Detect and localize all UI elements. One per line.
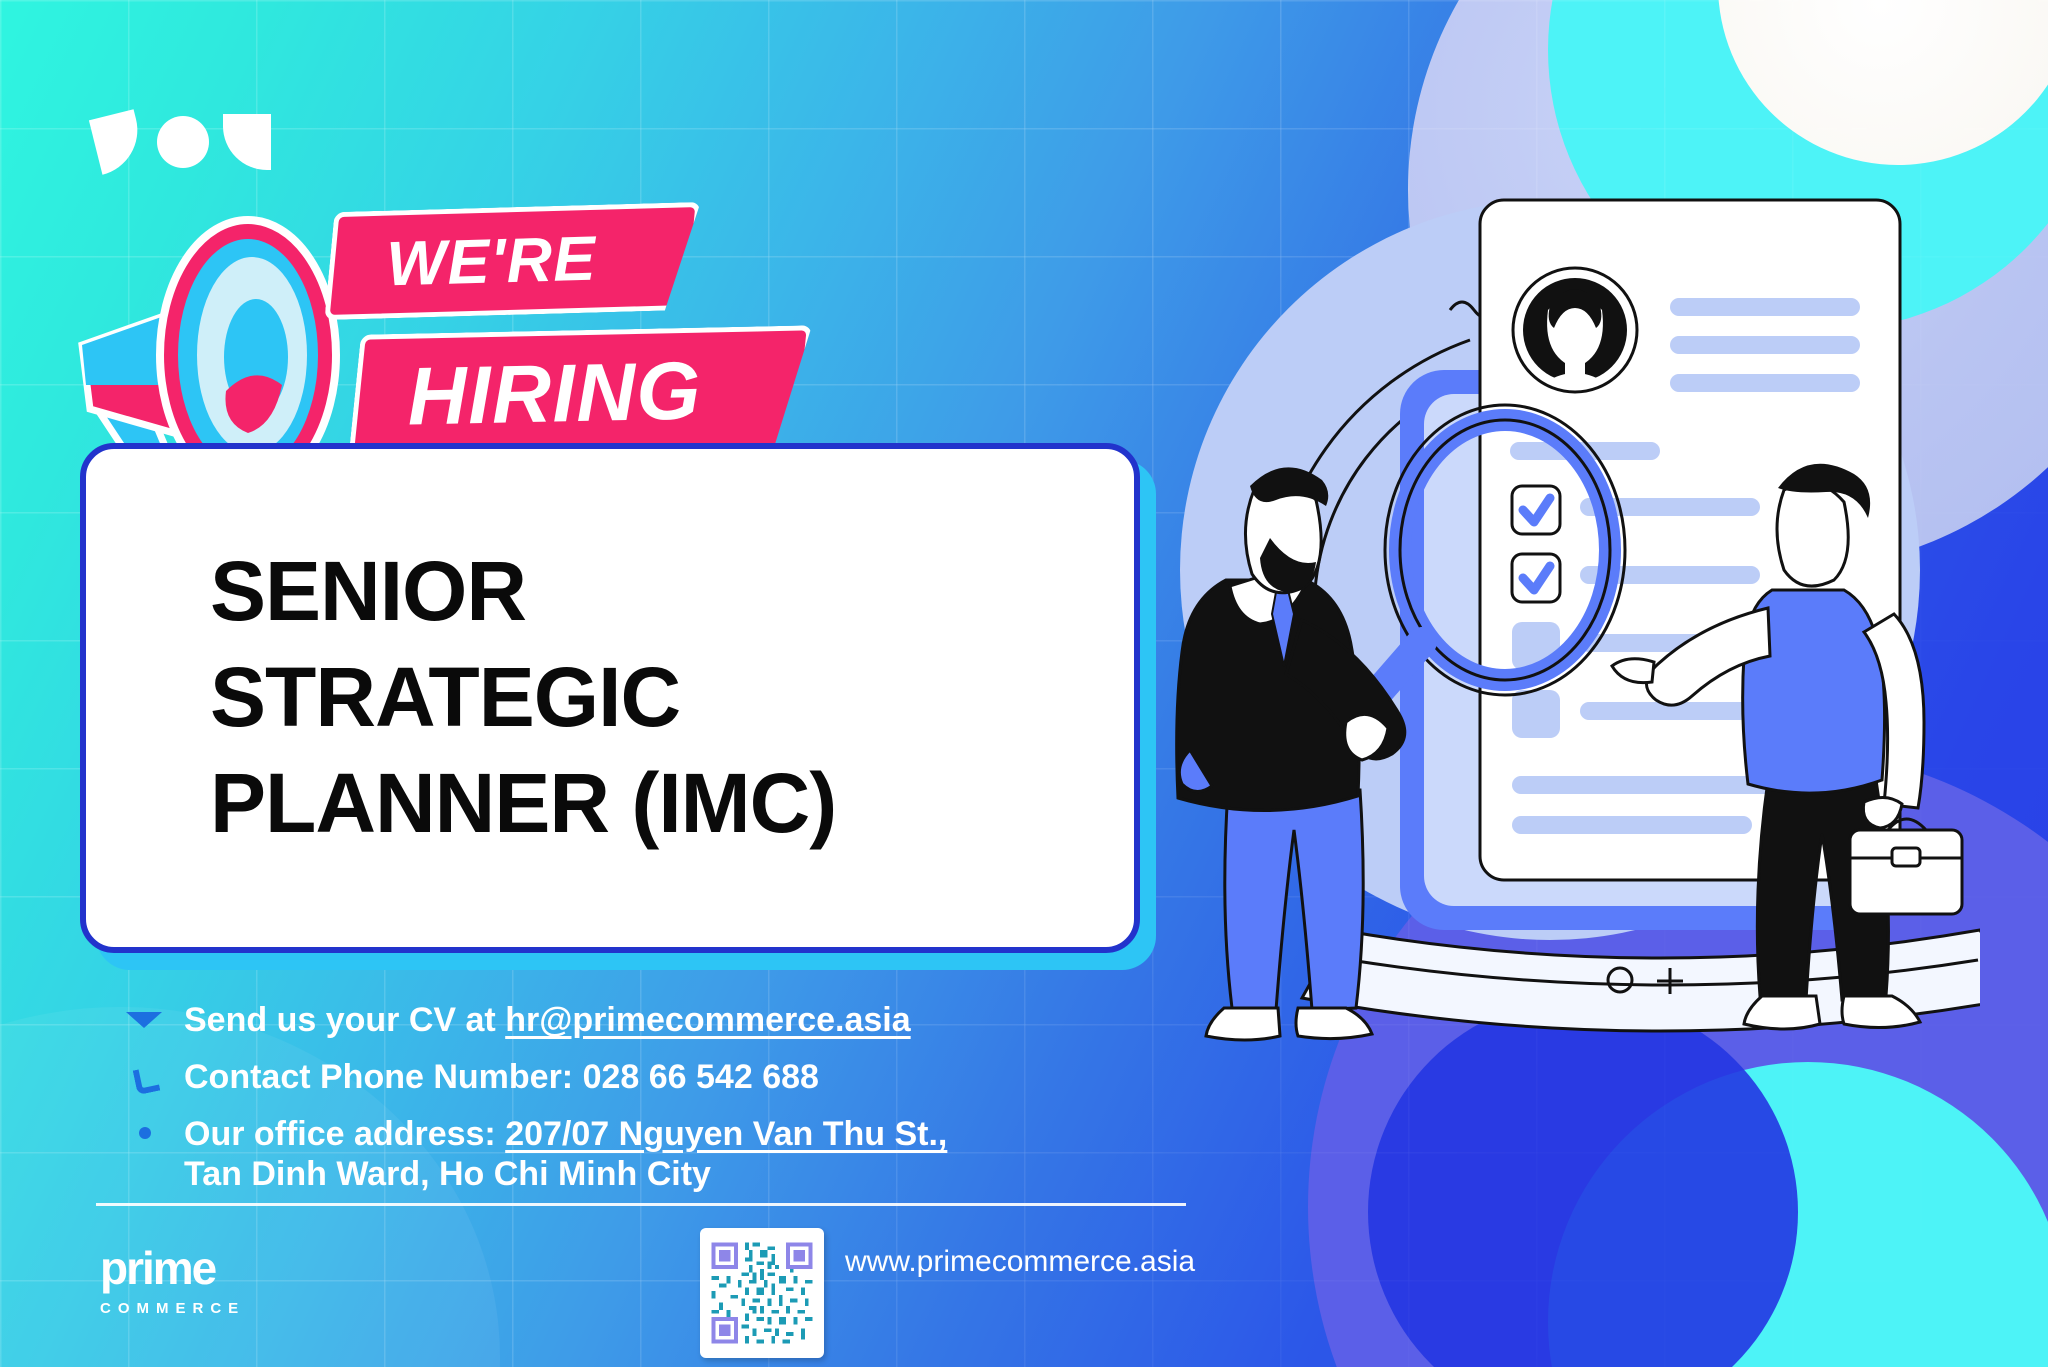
- contact-address-value[interactable]: 207/07 Nguyen Van Thu St.,: [505, 1115, 947, 1153]
- badge-were: WE'RE: [324, 202, 700, 320]
- logo-flag-shape: [223, 114, 271, 170]
- badge-hiring-label: HIRING: [407, 345, 703, 445]
- logo-dot-shape: [157, 116, 209, 168]
- contact-block: Send us your CV at hr@primecommerce.asia…: [126, 1000, 947, 1194]
- mail-icon: [126, 1003, 166, 1043]
- contact-address-value-line2[interactable]: Tan Dinh Ward, Ho Chi Minh City: [184, 1155, 947, 1194]
- location-pin-icon: [126, 1117, 166, 1157]
- contact-email-label: Send us your CV at: [184, 1001, 505, 1039]
- job-title-line-3: PLANNER (IMC): [210, 751, 1134, 857]
- contact-email-value[interactable]: hr@primecommerce.asia: [505, 1001, 910, 1039]
- qr-code[interactable]: [700, 1228, 824, 1358]
- brand-tagline: COMMERCE: [100, 1300, 245, 1317]
- contact-row-email: Send us your CV at hr@primecommerce.asia: [126, 1000, 947, 1043]
- job-title-card: SENIOR STRATEGIC PLANNER (IMC): [80, 443, 1140, 953]
- footer-divider: [96, 1203, 1186, 1206]
- job-title-line-2: STRATEGIC: [210, 645, 1134, 751]
- footer-brand: prime COMMERCE: [100, 1245, 245, 1317]
- job-title-line-1: SENIOR: [210, 539, 1134, 645]
- brand-name: prime: [100, 1245, 245, 1291]
- prime-logo-mark-icon: [95, 110, 290, 172]
- recruitment-poster: WE'RE HIRING SENIOR STRATEGIC PLANNER (I…: [0, 0, 2048, 1367]
- logo-comma-shape: [89, 109, 147, 174]
- contact-phone-label: Contact Phone Number:: [184, 1058, 583, 1096]
- website-label: www.primecommerce.asia: [845, 1245, 1195, 1279]
- recruitment-illustration: [1150, 190, 1980, 1090]
- contact-phone-value[interactable]: 028 66 542 688: [583, 1058, 819, 1096]
- contact-row-phone: Contact Phone Number: 028 66 542 688: [126, 1057, 947, 1100]
- contact-address-label: Our office address:: [184, 1115, 505, 1153]
- badge-were-label: WE'RE: [386, 223, 598, 301]
- phone-icon: [126, 1060, 166, 1100]
- contact-row-address: Our office address: 207/07 Nguyen Van Th…: [126, 1114, 947, 1157]
